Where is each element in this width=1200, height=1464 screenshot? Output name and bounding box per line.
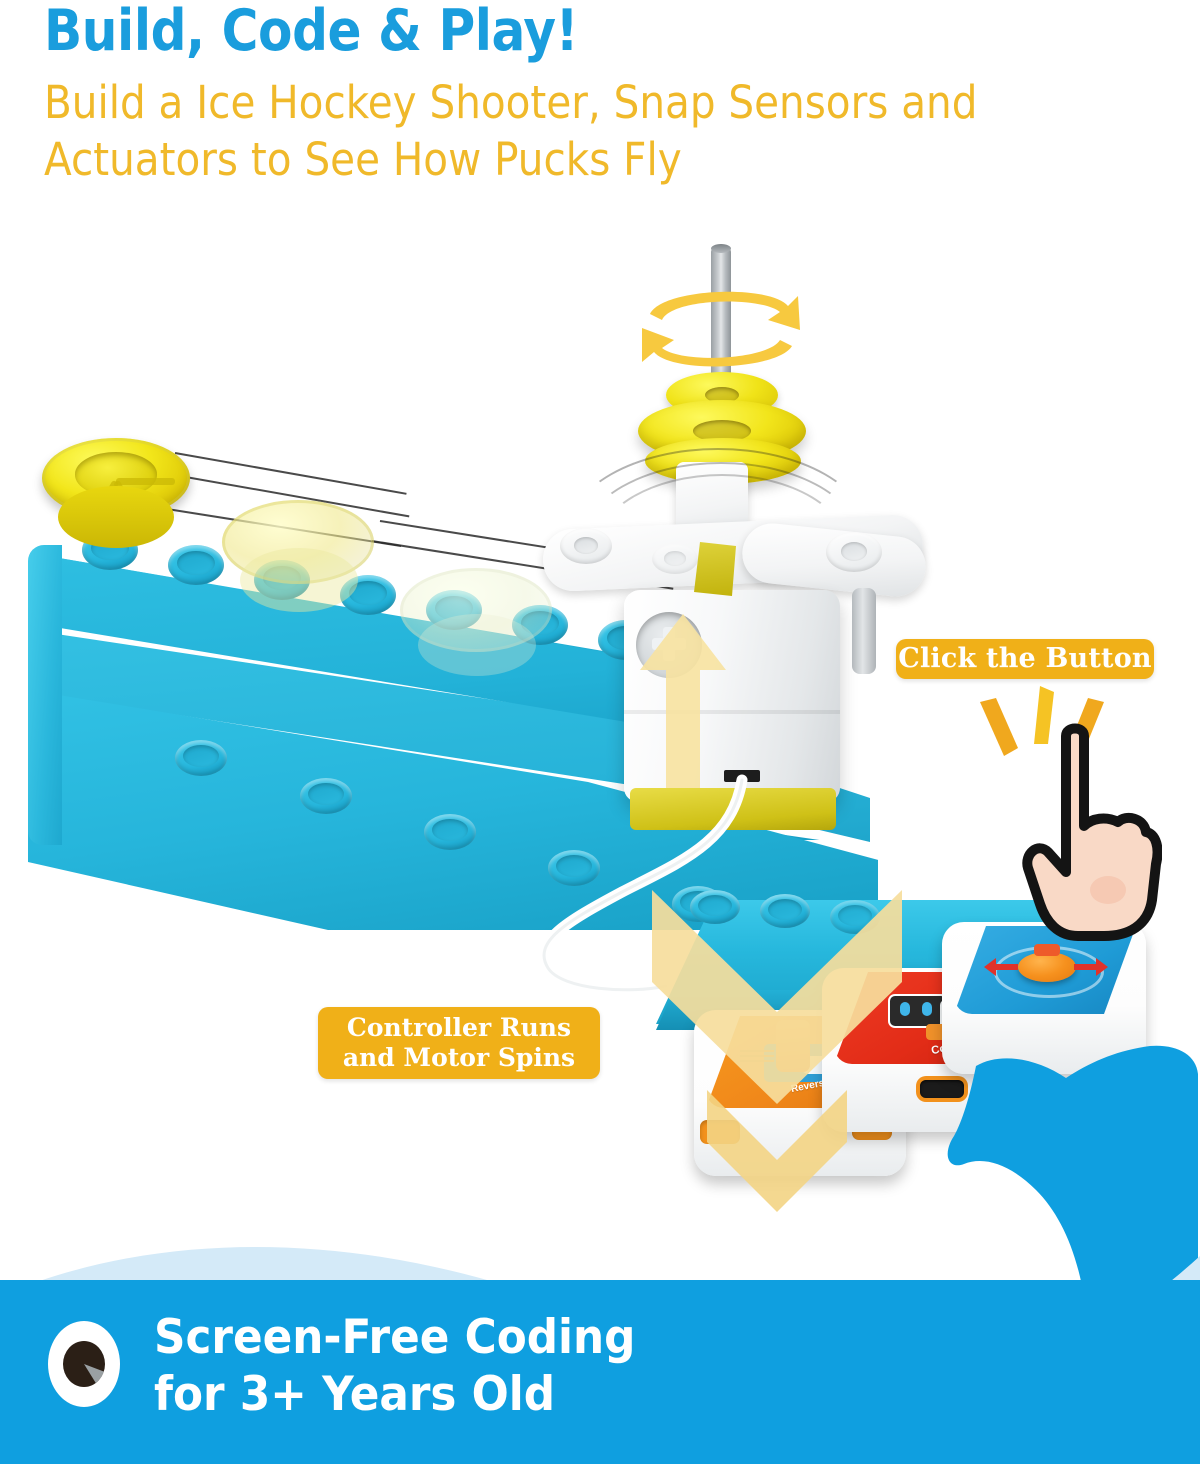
hand-pointer-icon — [1022, 722, 1162, 942]
banner-line-1: Screen-Free Coding — [154, 1309, 635, 1366]
beam-peg — [852, 588, 876, 674]
brick-stud — [168, 545, 224, 585]
eye-wedge — [84, 1364, 105, 1387]
eye-no-screen-icon — [48, 1321, 120, 1407]
headline-block: Build, Code & Play! Build a Ice Hockey S… — [44, 2, 1164, 189]
subtitle-line-1: Build a Ice Hockey Shooter, Snap Sensors… — [44, 74, 1052, 132]
right-arrow-icon — [1074, 958, 1108, 976]
page-title: Build, Code & Play! — [44, 2, 1030, 62]
callout-controller-line-1: Controller Runs — [347, 1013, 571, 1042]
puck-ghost-skirt — [240, 548, 358, 612]
bottom-banner: Screen-Free Coding for 3+ Years Old — [0, 1268, 1200, 1464]
brick-stud — [300, 778, 352, 814]
puck-ghost-skirt — [418, 614, 536, 676]
banner-line-2: for 3+ Years Old — [154, 1366, 635, 1423]
eye-pupil — [63, 1341, 105, 1387]
button-knob-cap — [1034, 944, 1060, 956]
product-marketing-image: Build, Code & Play! Build a Ice Hockey S… — [0, 0, 1200, 1464]
motor-axle-cap — [711, 244, 731, 253]
puck-solid-skirt — [58, 486, 174, 548]
button-knob[interactable] — [1018, 952, 1076, 982]
brick-stud — [424, 814, 476, 850]
motor-key-yellow — [694, 542, 736, 596]
callout-click-label: Click the Button — [898, 643, 1151, 676]
callout-click-the-button: Click the Button — [896, 639, 1154, 679]
banner-text: Screen-Free Coding for 3+ Years Old — [154, 1309, 635, 1424]
subtitle-line-2: Actuators to See How Pucks Fly — [44, 131, 1052, 189]
brick-stud — [175, 740, 227, 776]
brick-left-endcap — [28, 545, 62, 845]
page-subtitle: Build a Ice Hockey Shooter, Snap Sensors… — [44, 74, 1052, 189]
left-arrow-icon — [984, 958, 1018, 976]
